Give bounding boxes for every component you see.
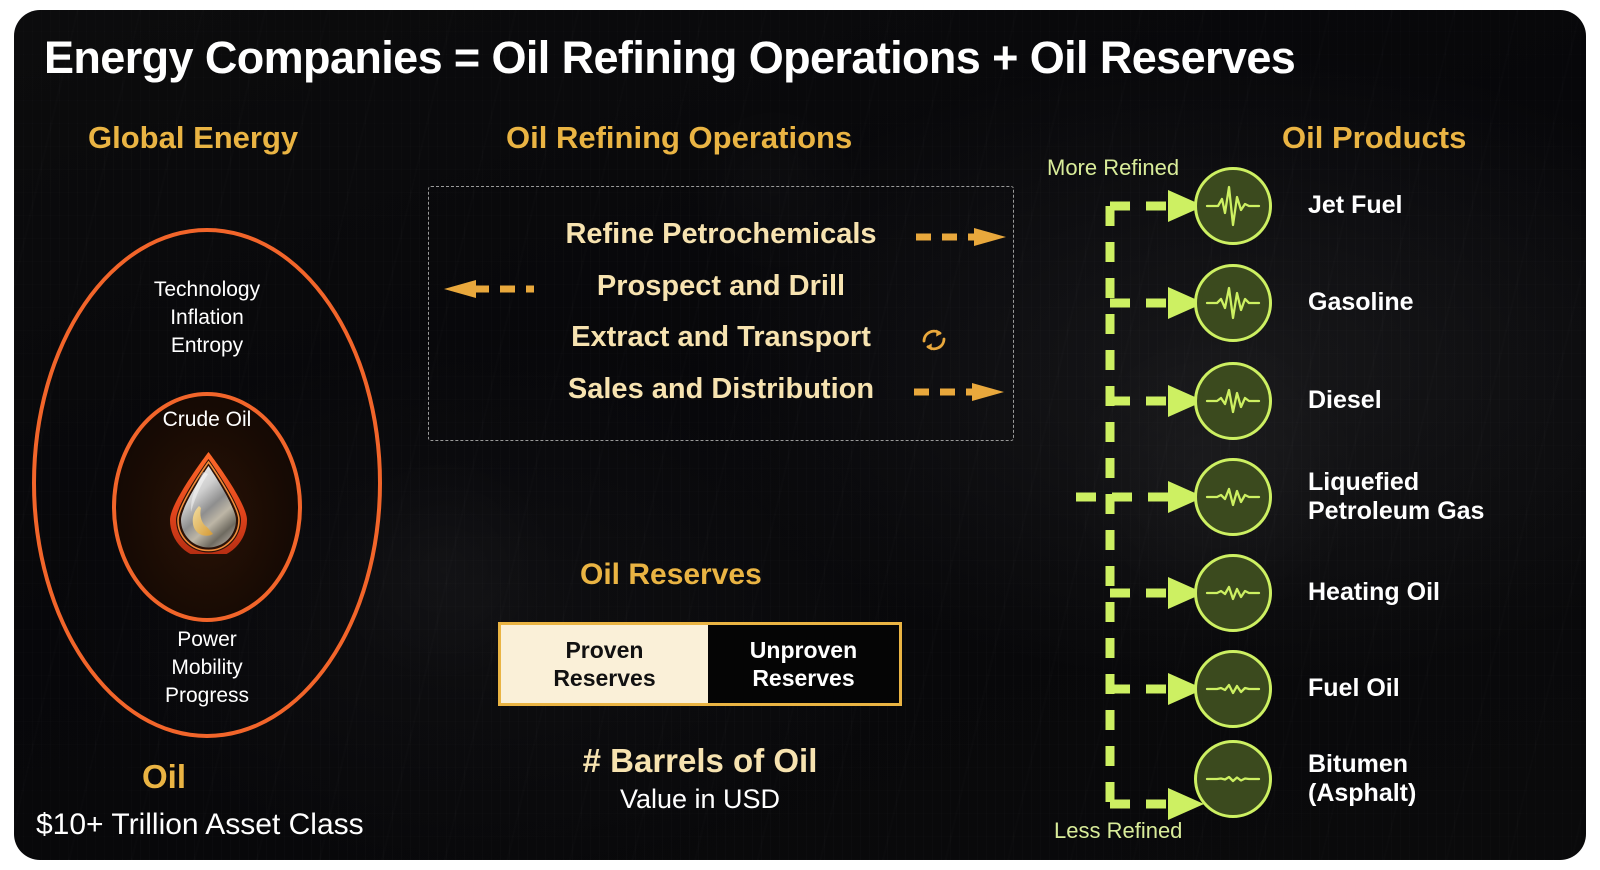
more-refined-label: More Refined xyxy=(1047,155,1179,181)
waveform-icon xyxy=(1194,362,1272,440)
product-row-bitumen[interactable]: Bitumen (Asphalt) xyxy=(1194,740,1586,818)
proven-reserves-cell: Proven Reserves xyxy=(501,625,708,703)
asset-class-caption: $10+ Trillion Asset Class xyxy=(36,808,364,842)
barrels-of-oil-label: # Barrels of Oil xyxy=(418,742,982,780)
arrow-left-dashed-icon xyxy=(444,278,536,300)
oil-word-label: Oil xyxy=(142,758,186,796)
value-in-usd-label: Value in USD xyxy=(418,784,982,815)
product-label: Bitumen (Asphalt) xyxy=(1308,750,1416,809)
cycle-refresh-icon xyxy=(917,323,951,362)
product-row-jet-fuel[interactable]: Jet Fuel xyxy=(1194,167,1586,245)
page-title: Energy Companies = Oil Refining Operatio… xyxy=(44,32,1524,84)
waveform-icon xyxy=(1194,740,1272,818)
product-label: Jet Fuel xyxy=(1308,191,1402,221)
arrow-right-dashed-icon xyxy=(914,226,1010,248)
product-label: Liquefied Petroleum Gas xyxy=(1308,468,1484,527)
refinement-flow-lines xyxy=(1076,180,1208,820)
waveform-icon xyxy=(1194,264,1272,342)
heading-oil-products: Oil Products xyxy=(1282,120,1466,156)
crude-oil-label: Crude Oil xyxy=(107,408,307,432)
waveform-icon xyxy=(1194,554,1272,632)
infographic-canvas: Energy Companies = Oil Refining Operatio… xyxy=(0,0,1600,870)
product-label: Gasoline xyxy=(1308,288,1414,318)
product-row-liquefied-petroleum-gas[interactable]: Liquefied Petroleum Gas xyxy=(1194,458,1586,536)
product-label: Fuel Oil xyxy=(1308,674,1400,704)
waveform-icon xyxy=(1194,167,1272,245)
product-row-heating-oil[interactable]: Heating Oil xyxy=(1194,554,1586,632)
waveform-icon xyxy=(1194,458,1272,536)
waveform-icon xyxy=(1194,650,1272,728)
heading-oil-refining: Oil Refining Operations xyxy=(506,120,852,156)
product-row-fuel-oil[interactable]: Fuel Oil xyxy=(1194,650,1586,728)
arrow-right-dashed-icon xyxy=(912,381,1008,403)
reserves-split-bar: Proven Reserves Unproven Reserves xyxy=(498,622,902,706)
heading-global-energy: Global Energy xyxy=(88,120,298,156)
heading-oil-reserves: Oil Reserves xyxy=(580,558,762,592)
outer-ring-top-text: Technology Inflation Entropy xyxy=(87,276,327,360)
dark-card: Energy Companies = Oil Refining Operatio… xyxy=(14,10,1586,860)
crude-to-products-connector xyxy=(236,491,1176,497)
product-label: Heating Oil xyxy=(1308,578,1440,608)
outer-ring-bottom-text: Power Mobility Progress xyxy=(87,626,327,710)
less-refined-label: Less Refined xyxy=(1054,818,1182,844)
product-label: Diesel xyxy=(1308,386,1382,416)
product-row-diesel[interactable]: Diesel xyxy=(1194,362,1586,440)
unproven-reserves-cell: Unproven Reserves xyxy=(708,625,899,703)
product-row-gasoline[interactable]: Gasoline xyxy=(1194,264,1586,342)
